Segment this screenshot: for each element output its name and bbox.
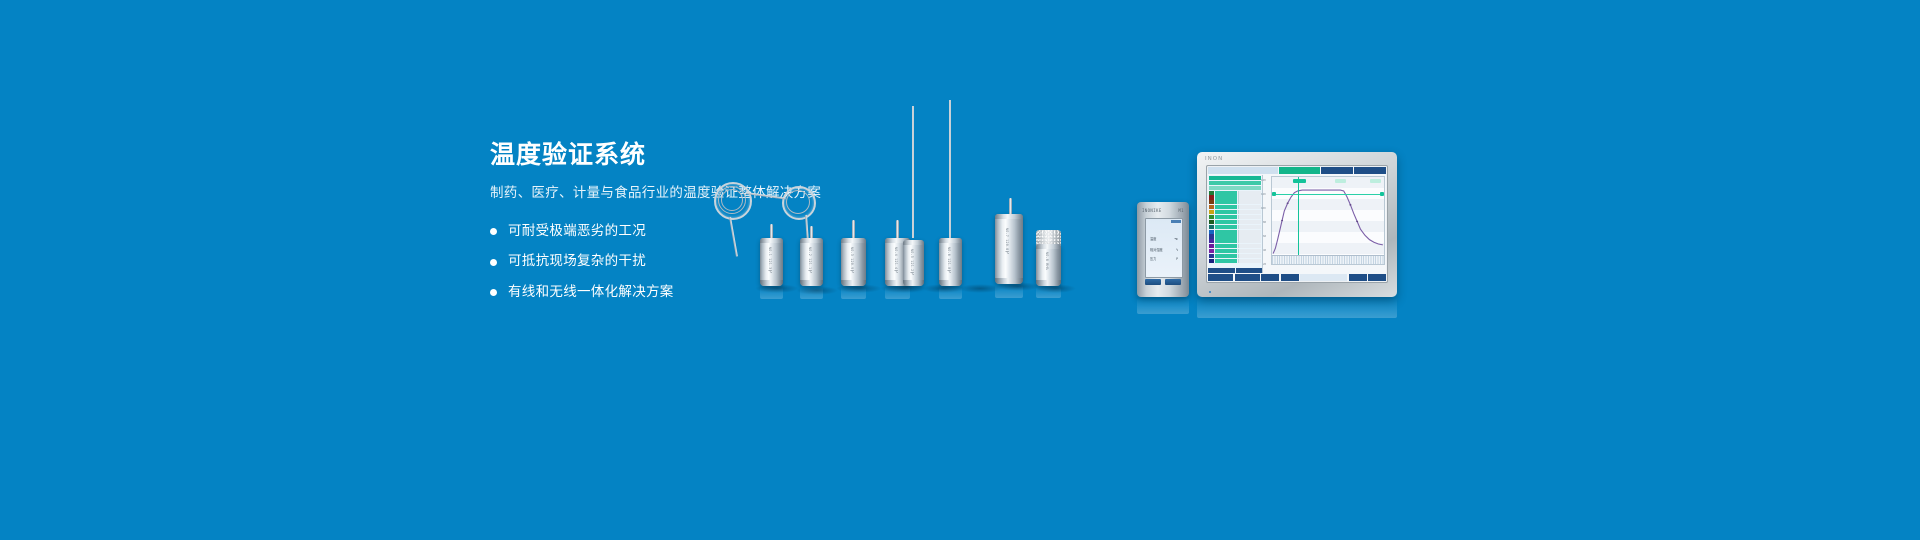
channel-value bbox=[1238, 200, 1261, 204]
monitor-bezel-inner: 140 120 100 80 60 40 20 bbox=[1206, 165, 1388, 283]
software-screen: 140 120 100 80 60 40 20 bbox=[1208, 167, 1386, 281]
table-row[interactable] bbox=[1209, 259, 1261, 263]
temperature-chart[interactable] bbox=[1271, 176, 1385, 265]
toolbar-button-print[interactable] bbox=[1349, 274, 1367, 281]
row-label: 压力 bbox=[1150, 256, 1156, 261]
channel-name bbox=[1215, 210, 1238, 214]
needle-probe bbox=[949, 100, 951, 240]
probe-neck bbox=[852, 220, 855, 238]
channel-color-swatch bbox=[1209, 220, 1214, 224]
channel-value bbox=[1238, 210, 1261, 214]
coil-ring bbox=[786, 190, 810, 214]
channel-value bbox=[1238, 230, 1261, 234]
table-row[interactable] bbox=[1209, 191, 1261, 195]
row-value: ℃ bbox=[1174, 237, 1178, 241]
bullet-dot-icon bbox=[490, 228, 497, 235]
table-row[interactable] bbox=[1209, 210, 1261, 214]
channel-color-swatch bbox=[1209, 200, 1214, 204]
clear-button[interactable] bbox=[1236, 268, 1263, 273]
channel-name bbox=[1215, 230, 1238, 234]
timeline-scrollbar[interactable] bbox=[1272, 255, 1384, 264]
channel-name bbox=[1215, 200, 1238, 204]
table-row[interactable] bbox=[1209, 244, 1261, 248]
feature-text: 可耐受极端恶劣的工况 bbox=[508, 223, 646, 241]
y-tick-label: 20 bbox=[1263, 263, 1266, 266]
app-toolbar bbox=[1208, 274, 1386, 281]
probe-neck bbox=[810, 226, 813, 238]
tab-analysis[interactable] bbox=[1279, 167, 1320, 174]
table-row[interactable] bbox=[1209, 230, 1261, 234]
channel-color-swatch bbox=[1209, 215, 1214, 219]
channel-name bbox=[1215, 195, 1238, 199]
tab-spacer bbox=[1208, 167, 1278, 174]
reflection bbox=[760, 287, 783, 299]
logger-engraving: NO.7 120.8℃ bbox=[1004, 228, 1009, 255]
channel-color-swatch bbox=[1209, 225, 1214, 229]
channel-color-swatch bbox=[1209, 239, 1214, 243]
marker-flag[interactable] bbox=[1335, 179, 1346, 183]
cylindrical-logger: NO.2 121.1℃ bbox=[800, 238, 823, 286]
needle-probe bbox=[912, 106, 914, 238]
display-status-bar bbox=[1171, 220, 1181, 223]
y-tick-label: 120 bbox=[1261, 193, 1266, 196]
channel-value bbox=[1238, 215, 1261, 219]
channel-name bbox=[1215, 259, 1238, 263]
y-tick-label: 100 bbox=[1261, 207, 1266, 210]
logger-engraving: NO.6 121.0℃ bbox=[946, 247, 951, 274]
channel-value bbox=[1238, 225, 1261, 229]
logger-engraving: NO.1 121.3℃ bbox=[767, 247, 772, 274]
cylindrical-logger: NO.1 121.3℃ bbox=[760, 238, 783, 286]
coil-ring bbox=[721, 189, 743, 211]
channel-value bbox=[1238, 244, 1261, 248]
display-row: 温度 ℃ bbox=[1150, 237, 1178, 240]
table-row[interactable] bbox=[1209, 249, 1261, 253]
cursor-handle-left[interactable] bbox=[1272, 192, 1276, 196]
channel-color-swatch bbox=[1209, 254, 1214, 258]
toolbar-button-collect[interactable] bbox=[1208, 274, 1233, 281]
channel-name bbox=[1215, 234, 1238, 238]
y-tick-label: 80 bbox=[1263, 221, 1266, 224]
tab-settings[interactable] bbox=[1354, 167, 1386, 174]
table-row[interactable] bbox=[1209, 205, 1261, 209]
probe-cable bbox=[729, 217, 738, 257]
channel-name bbox=[1215, 254, 1238, 258]
channel-name bbox=[1215, 220, 1238, 224]
channel-value bbox=[1238, 249, 1261, 253]
channel-color-swatch bbox=[1209, 244, 1214, 248]
table-row[interactable] bbox=[1209, 195, 1261, 199]
channel-value bbox=[1238, 259, 1261, 263]
product-photo-group: NO.1 121.3℃ NO.2 121.1℃ NO.3 120.9℃ NO.4… bbox=[700, 100, 1260, 360]
row-label: 温度 bbox=[1150, 236, 1156, 241]
channel-color-swatch bbox=[1209, 234, 1214, 238]
y-tick-label: 40 bbox=[1263, 249, 1266, 252]
probe-neck bbox=[896, 220, 899, 238]
channel-color-swatch bbox=[1209, 191, 1214, 195]
reflection bbox=[1197, 298, 1397, 318]
channel-name bbox=[1215, 191, 1238, 195]
table-row[interactable] bbox=[1209, 225, 1261, 229]
reflection bbox=[1036, 287, 1061, 298]
channel-value bbox=[1238, 234, 1261, 238]
y-tick-label: 60 bbox=[1263, 235, 1266, 238]
channel-name bbox=[1215, 215, 1238, 219]
logger-engraving: NO.5 121.2℃ bbox=[909, 249, 914, 276]
panel-subheader bbox=[1209, 181, 1261, 185]
marker-flag[interactable] bbox=[1370, 179, 1381, 183]
channel-name bbox=[1215, 205, 1238, 209]
channel-value bbox=[1238, 239, 1261, 243]
monitor-brand-label: INON bbox=[1205, 156, 1223, 162]
logger-engraving: NO.4 121.4℃ bbox=[893, 247, 898, 274]
feature-text: 有线和无线一体化解决方案 bbox=[508, 284, 674, 302]
panel-header bbox=[1209, 176, 1261, 180]
reflection bbox=[995, 285, 1023, 298]
toolbar-button-analyze[interactable] bbox=[1235, 274, 1260, 281]
row-value: % bbox=[1176, 248, 1178, 252]
channel-name bbox=[1215, 225, 1238, 229]
probe-neck bbox=[1009, 198, 1012, 214]
table-row[interactable] bbox=[1209, 234, 1261, 238]
temperature-curve bbox=[1272, 177, 1384, 264]
bullet-dot-icon bbox=[490, 289, 497, 296]
toolbar-status-area bbox=[1300, 274, 1347, 281]
channel-color-swatch bbox=[1209, 230, 1214, 234]
y-tick-label: 140 bbox=[1261, 179, 1266, 182]
reflection bbox=[1137, 298, 1189, 314]
cylindrical-logger: NO.6 121.0℃ bbox=[939, 238, 962, 286]
app-tab-bar bbox=[1208, 167, 1386, 174]
select-all-button[interactable] bbox=[1208, 268, 1235, 273]
table-row[interactable] bbox=[1209, 215, 1261, 219]
handheld-brand-label: INONIKE bbox=[1142, 208, 1162, 213]
channel-value bbox=[1238, 195, 1261, 199]
sintered-cap-humidity-logger: NO.8 RH% bbox=[1036, 244, 1061, 286]
handheld-display: 温度 ℃ 相对湿度 % 压力 P bbox=[1145, 218, 1183, 278]
hero-banner: 温度验证系统 制药、医疗、计量与食品行业的温度验证整体解决方案 可耐受极端恶劣的… bbox=[0, 0, 1920, 540]
reflection bbox=[939, 287, 962, 299]
toolbar-button-export[interactable] bbox=[1281, 274, 1299, 281]
vertical-cursor[interactable] bbox=[1298, 177, 1299, 264]
reflection bbox=[841, 287, 866, 299]
channel-value bbox=[1238, 205, 1261, 209]
channel-name bbox=[1215, 244, 1238, 248]
row-label: 相对湿度 bbox=[1150, 247, 1163, 252]
bullet-dot-icon bbox=[490, 259, 497, 266]
channel-list-panel[interactable] bbox=[1208, 175, 1263, 273]
panel-footer-buttons bbox=[1208, 268, 1262, 273]
probe-neck bbox=[770, 224, 773, 238]
table-row[interactable] bbox=[1209, 220, 1261, 224]
channel-value bbox=[1238, 254, 1261, 258]
logger-engraving: NO.2 121.1℃ bbox=[807, 247, 812, 274]
display-row: 相对湿度 % bbox=[1150, 248, 1178, 251]
channel-color-swatch bbox=[1209, 195, 1214, 199]
row-value: P bbox=[1176, 257, 1178, 261]
handheld-back-button[interactable] bbox=[1165, 279, 1181, 285]
validation-software-monitor: INON bbox=[1197, 152, 1397, 297]
cylindrical-logger: NO.7 120.8℃ bbox=[995, 214, 1023, 284]
reflection bbox=[800, 287, 823, 299]
table-row[interactable] bbox=[1209, 254, 1261, 258]
table-row[interactable] bbox=[1209, 239, 1261, 243]
panel-column-header bbox=[1209, 186, 1261, 190]
channel-color-swatch bbox=[1209, 205, 1214, 209]
channel-name bbox=[1215, 239, 1238, 243]
cylindrical-logger: NO.5 121.2℃ bbox=[903, 240, 924, 286]
channel-color-swatch bbox=[1209, 210, 1214, 214]
channel-value bbox=[1238, 220, 1261, 224]
toolbar-button-exit[interactable] bbox=[1368, 274, 1386, 281]
cursor-handle-right[interactable] bbox=[1380, 192, 1384, 196]
power-led-icon bbox=[1209, 291, 1211, 293]
logger-engraving: NO.3 120.9℃ bbox=[849, 247, 854, 274]
display-row: 压力 P bbox=[1150, 257, 1178, 260]
feature-text: 可抵抗现场复杂的干扰 bbox=[508, 253, 646, 271]
tab-report[interactable] bbox=[1321, 167, 1353, 174]
channel-value bbox=[1238, 191, 1261, 195]
handheld-model-label: M1 bbox=[1178, 208, 1184, 213]
logger-engraving: NO.8 RH% bbox=[1044, 252, 1049, 270]
handheld-reader[interactable]: INONIKE M1 温度 ℃ 相对湿度 % 压力 P bbox=[1137, 202, 1189, 297]
channel-color-swatch bbox=[1209, 249, 1214, 253]
baseline-cursor[interactable] bbox=[1272, 194, 1384, 195]
toolbar-button-upload[interactable] bbox=[1261, 274, 1279, 281]
cursor-top-flag[interactable] bbox=[1293, 179, 1306, 183]
cylindrical-logger: NO.3 120.9℃ bbox=[841, 238, 866, 286]
channel-name bbox=[1215, 249, 1238, 253]
reflection bbox=[885, 287, 910, 299]
channel-color-swatch bbox=[1209, 259, 1214, 263]
table-row[interactable] bbox=[1209, 200, 1261, 204]
handheld-confirm-button[interactable] bbox=[1145, 279, 1161, 285]
